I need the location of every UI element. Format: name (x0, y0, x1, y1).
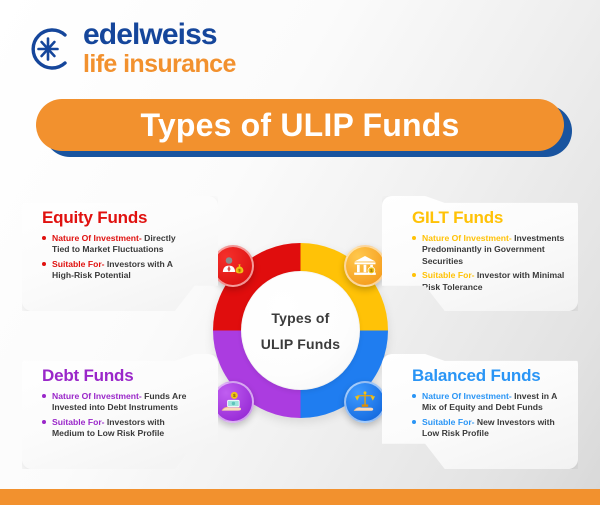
infographic-page: edelweiss life insurance Types of ULIP F… (0, 0, 600, 505)
brand-logo: edelweiss life insurance (24, 20, 236, 77)
card-balanced-funds: Balanced Funds Nature Of Investment- Inv… (382, 354, 578, 469)
card-equity-bullets: Nature Of Investment- Directly Tied to M… (42, 233, 192, 282)
title-banner-pill: Types of ULIP Funds (36, 99, 564, 151)
donut-center-line2: ULIP Funds (261, 336, 341, 352)
card-debt-heading: Debt Funds (42, 366, 192, 386)
bullet-label: Nature Of Investment- (52, 233, 142, 243)
title-banner: Types of ULIP Funds (36, 99, 564, 157)
list-item: Suitable For- Investor with Minimal Risk… (412, 270, 568, 293)
bullet-label: Nature Of Investment- (52, 391, 142, 401)
list-item: Nature Of Investment- Invest in A Mix of… (412, 391, 568, 414)
bullet-label: Suitable For- (52, 417, 105, 427)
brand-name-line2: life insurance (83, 52, 236, 77)
card-gilt-bullets: Nature Of Investment- Investments Predom… (412, 233, 568, 293)
card-debt-funds: Debt Funds Nature Of Investment- Funds A… (22, 354, 218, 469)
businessman-money-bag-icon: $ (212, 245, 254, 287)
bullet-label: Suitable For- (52, 259, 105, 269)
bullet-label: Suitable For- (422, 417, 475, 427)
svg-text:$: $ (233, 393, 236, 399)
hand-holding-scales-icon (344, 381, 386, 423)
bullet-label: Nature Of Investment- (422, 233, 512, 243)
brand-wordmark: edelweiss life insurance (83, 20, 236, 77)
card-equity-heading: Equity Funds (42, 208, 192, 228)
svg-text:$: $ (239, 269, 241, 273)
list-item: Suitable For- Investors with A High-Risk… (42, 259, 192, 282)
list-item: Suitable For- New Investors with Low Ris… (412, 417, 568, 440)
card-balanced-bullets: Nature Of Investment- Invest in A Mix of… (412, 391, 568, 440)
edelweiss-snowflake-icon (24, 24, 74, 74)
list-item: Nature Of Investment- Funds Are Invested… (42, 391, 192, 414)
card-debt-bullets: Nature Of Investment- Funds Are Invested… (42, 391, 192, 440)
footer-accent-bar (0, 489, 600, 505)
hand-holding-cash-icon: $ (212, 381, 254, 423)
page-title: Types of ULIP Funds (140, 107, 459, 144)
list-item: Nature Of Investment- Directly Tied to M… (42, 233, 192, 256)
brand-name-line1: edelweiss (83, 20, 236, 50)
donut-center-line1: Types of (271, 310, 329, 326)
government-bank-building-icon: $ (344, 245, 386, 287)
card-gilt-funds: GILT Funds Nature Of Investment- Investm… (382, 196, 578, 311)
card-balanced-heading: Balanced Funds (412, 366, 568, 386)
donut-center-label: Types of ULIP Funds (241, 271, 360, 390)
list-item: Nature Of Investment- Investments Predom… (412, 233, 568, 267)
card-gilt-heading: GILT Funds (412, 208, 568, 228)
bullet-label: Nature Of Investment- (422, 391, 512, 401)
svg-text:$: $ (370, 268, 373, 273)
card-equity-funds: Equity Funds Nature Of Investment- Direc… (22, 196, 218, 311)
list-item: Suitable For- Investors with Medium to L… (42, 417, 192, 440)
bullet-label: Suitable For- (422, 270, 475, 280)
